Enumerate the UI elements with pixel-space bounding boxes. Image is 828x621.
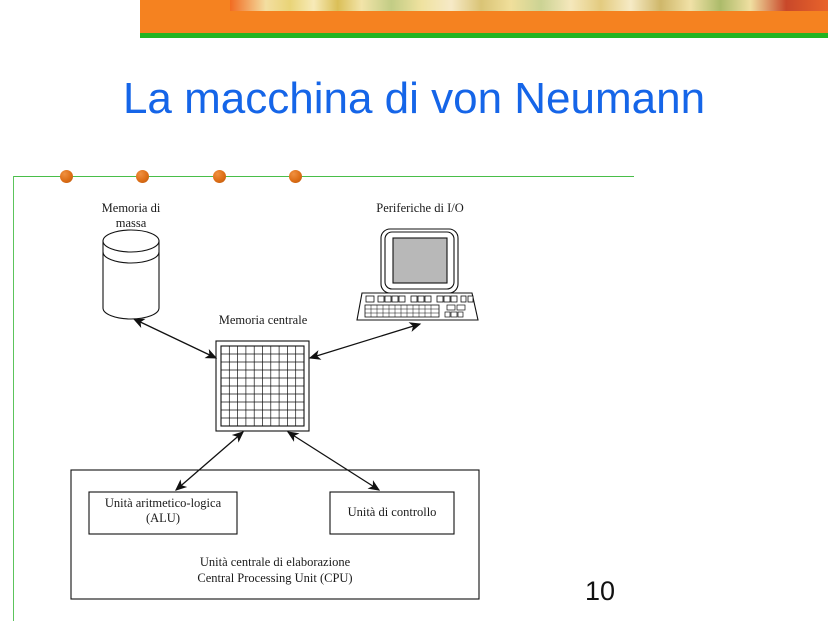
page-number: 10: [585, 576, 615, 607]
label-control-unit: Unità di controllo: [330, 505, 454, 520]
label-mass-storage: Memoria di massa: [81, 201, 181, 231]
io-monitor: [381, 229, 458, 293]
bullet-dot-1: [60, 170, 73, 183]
banner-photo-strip: [230, 0, 828, 11]
frame-horizontal-line: [13, 176, 634, 177]
io-keyboard: [357, 293, 478, 320]
main-memory-grid: [216, 341, 309, 431]
bullet-dot-4: [289, 170, 302, 183]
bullet-dot-2: [136, 170, 149, 183]
slide-canvas: La macchina di von Neumann: [0, 0, 828, 621]
banner-green-rule: [140, 33, 828, 38]
page-title: La macchina di von Neumann: [0, 72, 828, 126]
mass-storage-cylinder: [103, 230, 159, 319]
arrow-memory-io: [310, 324, 420, 358]
frame-vertical-line: [13, 176, 14, 621]
header-banner: [140, 0, 828, 33]
label-main-memory: Memoria centrale: [203, 313, 323, 328]
label-cpu: Unità centrale di elaborazione Central P…: [135, 554, 415, 586]
arrow-memory-alu: [176, 432, 243, 490]
bullet-dot-3: [213, 170, 226, 183]
label-alu: Unità aritmetico-logica (ALU): [89, 496, 237, 526]
label-io-peripherals: Periferiche di I/O: [360, 201, 480, 216]
arrow-memory-controlunit: [288, 432, 379, 490]
